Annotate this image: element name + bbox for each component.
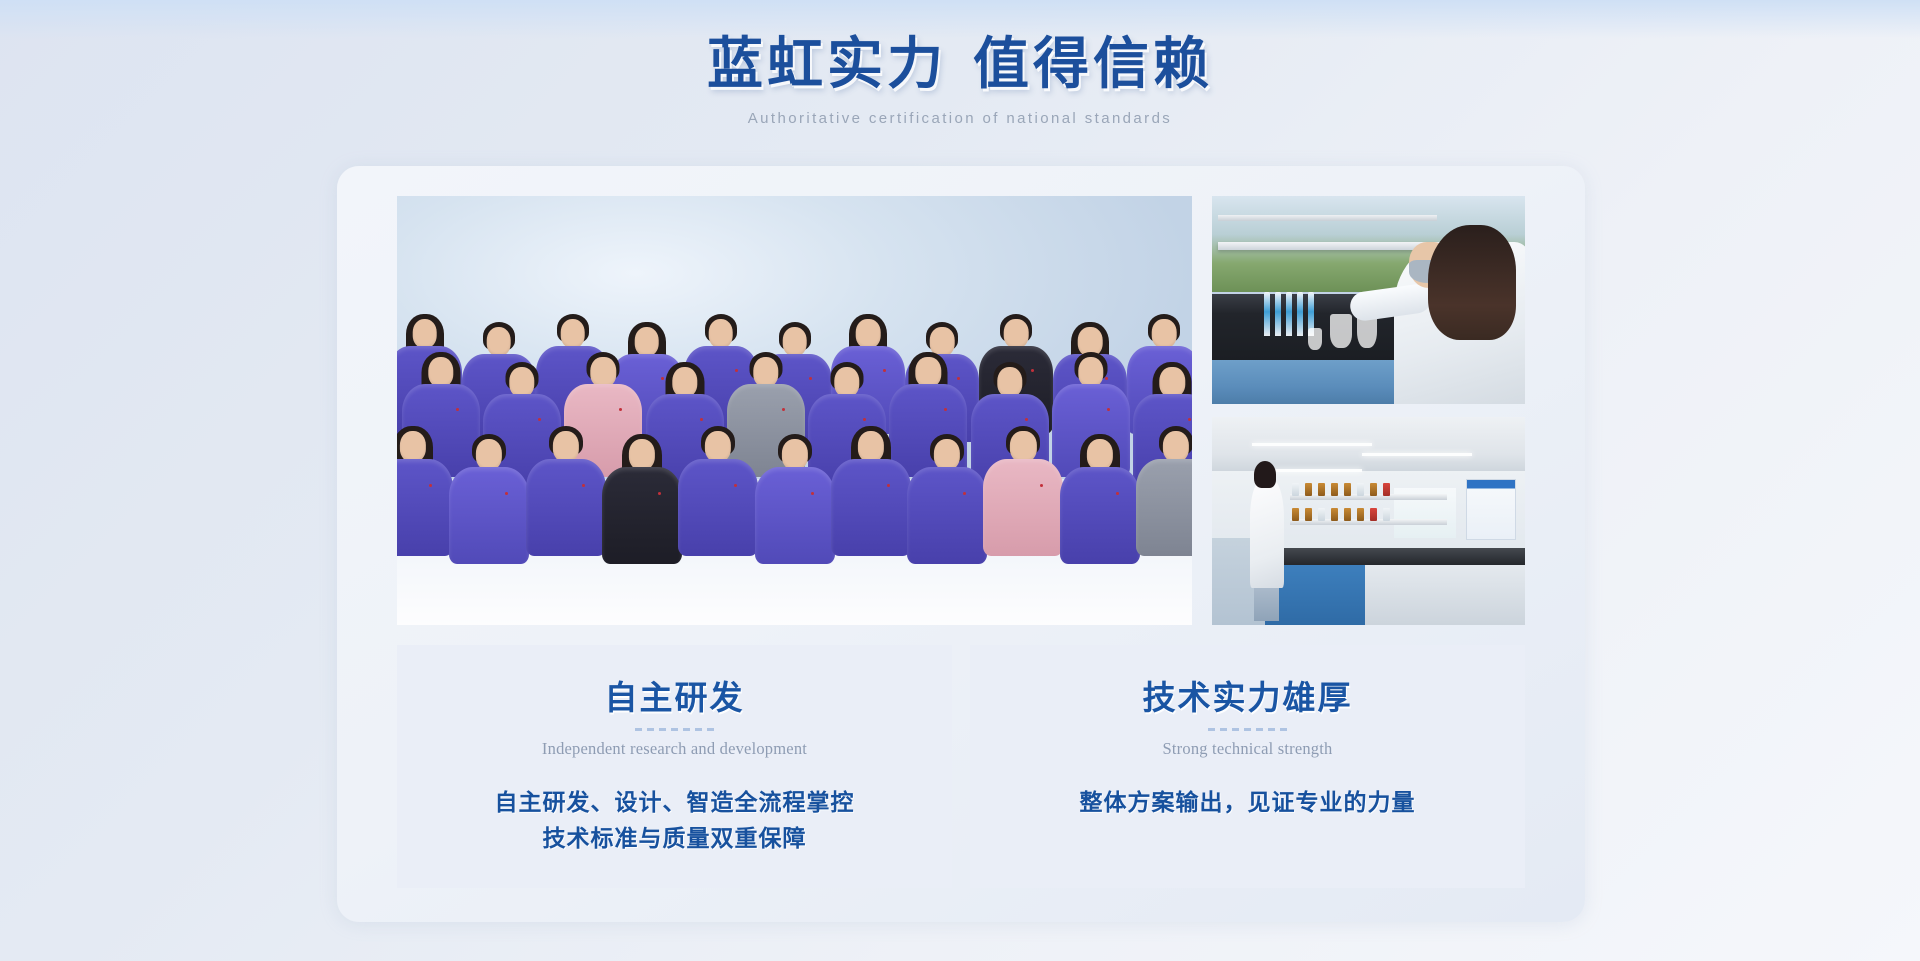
page-title-part2: 值得信赖: [973, 34, 1213, 96]
card-divider: [635, 728, 714, 731]
reagent-bottle-icon: [1344, 483, 1351, 496]
reagent-bottle-icon: [1331, 483, 1338, 496]
lab-bottom-white-cabinet: [1365, 565, 1525, 625]
ceiling-light-icon: [1362, 453, 1472, 456]
reagent-bottle-icon: [1292, 508, 1299, 521]
divider-dash: [647, 728, 654, 731]
lab-bottom-researcher-legs: [1254, 583, 1279, 620]
lab-top-upper-shelf: [1218, 215, 1437, 221]
content-panel: 自主研发 Independent research and developmen…: [337, 166, 1585, 922]
lab-bottom-shelf-lower: [1290, 519, 1447, 525]
lab-bottom-researcher-coat: [1250, 479, 1284, 587]
divider-dash: [1220, 728, 1227, 731]
page-subtitle: Authoritative certification of national …: [0, 110, 1920, 127]
reagent-bottle-icon: [1318, 483, 1325, 496]
card-title: 自主研发: [605, 671, 745, 719]
team-member: [678, 426, 758, 556]
reagent-bottle-icon: [1305, 483, 1312, 496]
divider-dash: [707, 728, 714, 731]
reagent-bottle-icon: [1318, 508, 1325, 521]
card-description: 整体方案输出，见证专业的力量: [1080, 785, 1416, 821]
lab-bottom-notice-board: [1466, 479, 1516, 539]
reagent-bottle-icon: [1357, 508, 1364, 521]
divider-dash: [1268, 728, 1275, 731]
pipette-icon: [1286, 292, 1292, 336]
card-description: 自主研发、设计、智造全流程掌控 技术标准与质量双重保障: [495, 785, 855, 856]
divider-dash: [635, 728, 642, 731]
divider-dash: [659, 728, 666, 731]
card-english-subtitle: Strong technical strength: [1163, 739, 1333, 759]
pipette-icon: [1297, 292, 1303, 336]
team-member: [449, 434, 529, 564]
team-member: [526, 426, 606, 556]
divider-dash: [671, 728, 678, 731]
divider-dash: [1208, 728, 1215, 731]
card-title: 技术实力雄厚: [1143, 671, 1353, 719]
reagent-bottle-icon: [1292, 483, 1299, 496]
lab-bottom-bench: [1265, 548, 1525, 565]
feature-card-list: 自主研发 Independent research and developmen…: [397, 645, 1525, 888]
team-member: [1060, 434, 1140, 564]
team-photo: [397, 196, 1192, 625]
team-member: [397, 426, 453, 556]
card-description-line2: 技术标准与质量双重保障: [495, 821, 855, 857]
page-title-part1: 蓝虹实力: [707, 34, 947, 96]
glassware-icon: [1308, 328, 1322, 350]
reagent-bottle-icon: [1331, 508, 1338, 521]
card-description-line1: 自主研发、设计、智造全流程掌控: [495, 785, 855, 821]
lab-top-researcher-hair: [1428, 225, 1516, 339]
lab-top-shelf: [1218, 242, 1443, 250]
divider-dash: [683, 728, 690, 731]
ceiling-light-icon: [1252, 443, 1372, 446]
team-member: [1136, 426, 1192, 556]
team-member: [907, 434, 987, 564]
team-member: [831, 426, 911, 556]
feature-card-technical-strength: 技术实力雄厚 Strong technical strength 整体方案输出，…: [970, 645, 1525, 888]
card-description-line1: 整体方案输出，见证专业的力量: [1080, 785, 1416, 821]
lab-photo-top: [1212, 196, 1525, 404]
page-header: 蓝虹实力值得信赖 Authoritative certification of …: [0, 0, 1920, 127]
team-member: [602, 434, 682, 564]
lab-bottom-shelf-upper: [1290, 494, 1447, 500]
pipette-icon: [1264, 292, 1270, 336]
card-english-subtitle: Independent research and development: [542, 739, 807, 759]
divider-dash: [695, 728, 702, 731]
reagent-bottle-icon: [1383, 483, 1390, 496]
team-member: [755, 434, 835, 564]
reagent-bottle-icon: [1344, 508, 1351, 521]
divider-dash: [1256, 728, 1263, 731]
page-title: 蓝虹实力值得信赖: [0, 30, 1920, 100]
glassware-icon: [1330, 314, 1352, 348]
reagent-bottle-icon: [1305, 508, 1312, 521]
team-member: [983, 426, 1063, 556]
feature-card-independent-rd: 自主研发 Independent research and developmen…: [397, 645, 952, 888]
reagent-bottle-icon: [1357, 483, 1364, 496]
ceiling-light-icon: [1272, 469, 1362, 472]
card-divider: [1208, 728, 1287, 731]
lab-photo-bottom: [1212, 417, 1525, 625]
divider-dash: [1232, 728, 1239, 731]
divider-dash: [1280, 728, 1287, 731]
pipette-icon: [1275, 292, 1281, 336]
lab-bottom-researcher-hair: [1254, 461, 1276, 488]
reagent-bottle-icon: [1370, 508, 1377, 521]
divider-dash: [1244, 728, 1251, 731]
reagent-bottle-icon: [1383, 508, 1390, 521]
reagent-bottle-icon: [1370, 483, 1377, 496]
